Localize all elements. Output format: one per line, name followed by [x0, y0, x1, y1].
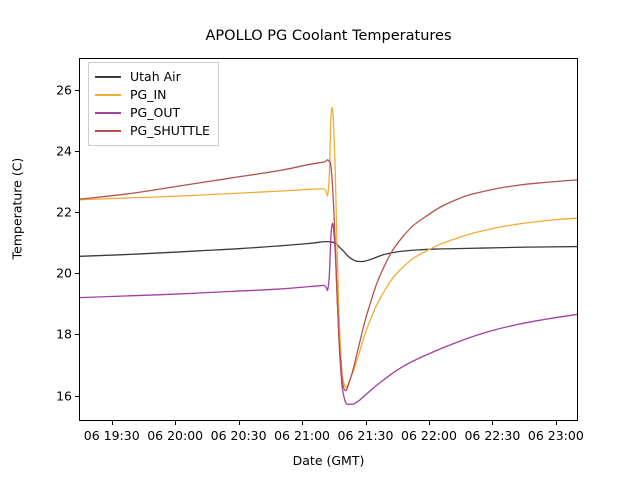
- legend-color-swatch: [95, 112, 121, 114]
- chart-title: APOLLO PG Coolant Temperatures: [79, 28, 578, 44]
- legend-item[interactable]: Utah Air: [95, 68, 210, 86]
- legend-item-label: PG_OUT: [130, 107, 180, 120]
- x-tick-mark: [302, 421, 303, 425]
- x-tick-mark: [556, 421, 557, 425]
- y-axis-label: Temperature (C): [10, 109, 25, 309]
- figure-canvas: APOLLO PG Coolant Temperatures Temperatu…: [0, 0, 640, 480]
- chart-legend[interactable]: Utah AirPG_INPG_OUTPG_SHUTTLE: [88, 62, 219, 146]
- x-tick-label: 06 20:00: [147, 428, 203, 443]
- x-tick-mark: [366, 421, 367, 425]
- x-tick-mark: [175, 421, 176, 425]
- legend-color-swatch: [95, 76, 121, 78]
- legend-color-swatch: [95, 94, 121, 96]
- y-tick-label: 24: [32, 143, 72, 158]
- x-tick-label: 06 22:00: [401, 428, 457, 443]
- x-tick-label: 06 19:30: [84, 428, 140, 443]
- y-tick-label: 16: [32, 388, 72, 403]
- legend-item[interactable]: PG_SHUTTLE: [95, 122, 210, 140]
- series-line: [80, 242, 577, 262]
- series-line: [80, 160, 577, 391]
- x-tick-mark: [429, 421, 430, 425]
- x-tick-label: 06 22:30: [464, 428, 520, 443]
- series-line: [80, 223, 577, 404]
- x-tick-label: 06 21:30: [338, 428, 394, 443]
- x-axis-label: Date (GMT): [79, 453, 578, 468]
- x-tick-mark: [239, 421, 240, 425]
- y-axis-tick-labels: 161820222426: [26, 58, 72, 421]
- x-tick-mark: [492, 421, 493, 425]
- x-tick-mark: [112, 421, 113, 425]
- x-tick-label: 06 20:30: [211, 428, 267, 443]
- x-tick-label: 06 21:00: [274, 428, 330, 443]
- legend-item-label: PG_SHUTTLE: [130, 125, 210, 138]
- y-tick-label: 20: [32, 266, 72, 281]
- legend-item[interactable]: PG_OUT: [95, 104, 210, 122]
- legend-item-label: Utah Air: [130, 71, 181, 84]
- y-tick-label: 18: [32, 327, 72, 342]
- y-tick-label: 22: [32, 204, 72, 219]
- legend-item[interactable]: PG_IN: [95, 86, 210, 104]
- legend-item-label: PG_IN: [130, 89, 167, 102]
- x-tick-label: 06 23:00: [528, 428, 584, 443]
- legend-color-swatch: [95, 130, 121, 132]
- y-tick-label: 26: [32, 82, 72, 97]
